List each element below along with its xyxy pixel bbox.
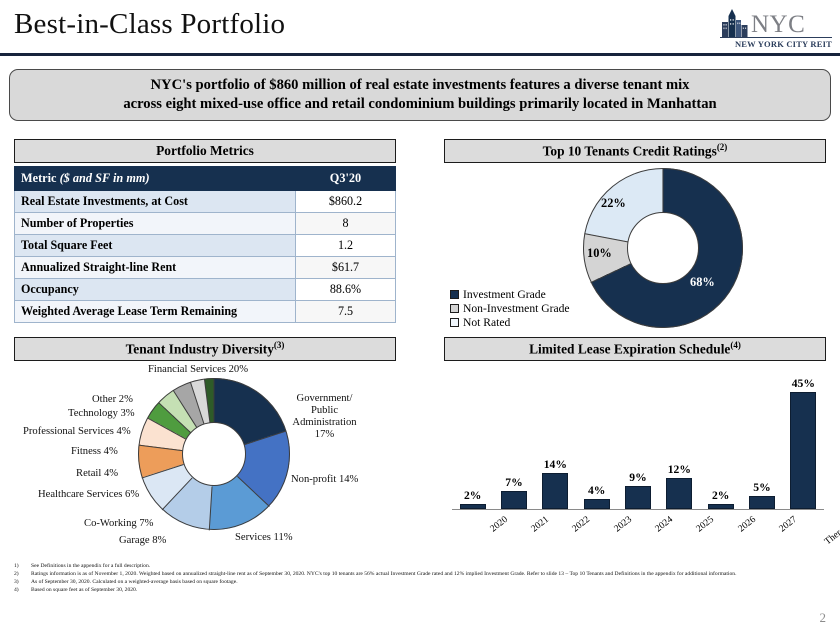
industry-label-text: Government/ Public Administration 17% xyxy=(292,393,356,440)
section-header-credit-ratings: Top 10 Tenants Credit Ratings(2) xyxy=(444,139,826,163)
industry-label-retail: Retail 4% xyxy=(76,468,118,480)
legend-item-investment-grade: Investment Grade xyxy=(450,287,570,301)
bar-category-label: 2025 xyxy=(694,514,716,534)
legend-label: Investment Grade xyxy=(463,288,546,301)
bar-value-label: 12% xyxy=(657,463,701,476)
bar-value-label: 2% xyxy=(699,489,743,502)
metric-label: Annualized Straight-line Rent xyxy=(15,257,296,279)
bar-category-label: 2024 xyxy=(653,514,675,534)
header-divider xyxy=(0,53,840,56)
footnote-number: 3) xyxy=(14,579,31,586)
skyline-building-icon xyxy=(720,9,750,37)
bar-category-label: 2021 xyxy=(529,514,551,534)
table-row: Number of Properties8 xyxy=(15,213,396,235)
page-title: Best-in-Class Portfolio xyxy=(14,8,285,41)
metric-value: 7.5 xyxy=(296,301,396,323)
section-title-text: Top 10 Tenants Credit Ratings(2) xyxy=(543,142,728,159)
slide: Best-in-Class Portfolio xyxy=(0,0,840,631)
portfolio-metrics-table: Metric ($ and SF in mm) Q3'20 Real Estat… xyxy=(14,166,396,323)
bar-value-label: 45% xyxy=(781,377,825,390)
bar-category-label: 2022 xyxy=(570,514,592,534)
logo-wordmark: NYC xyxy=(751,12,805,37)
metric-header-label: Metric xyxy=(21,171,57,185)
metric-value: $61.7 xyxy=(296,257,396,279)
column-header-value: Q3'20 xyxy=(296,167,396,191)
industry-label-professional-services: Professional Services 4% xyxy=(23,426,131,438)
metric-label: Occupancy xyxy=(15,279,296,301)
credit-ratings-legend: Investment Grade Non-Investment Grade No… xyxy=(450,287,570,329)
section-title-text: Portfolio Metrics xyxy=(156,143,254,159)
donut-label-non-investment-grade: 10% xyxy=(587,246,612,261)
table-row: Occupancy88.6% xyxy=(15,279,396,301)
bar-category-label: Thereafter xyxy=(823,514,840,547)
bar xyxy=(790,392,816,509)
donut-label-not-rated: 22% xyxy=(601,196,626,211)
bar xyxy=(542,473,568,509)
legend-label: Non-Investment Grade xyxy=(463,302,570,315)
section-header-lease-expiration: Limited Lease Expiration Schedule(4) xyxy=(444,337,826,361)
footnote-row: 4)Based on square feet as of September 3… xyxy=(14,587,826,594)
legend-swatch-icon xyxy=(450,318,459,327)
legend-item-not-rated: Not Rated xyxy=(450,315,570,329)
metric-value: 1.2 xyxy=(296,235,396,257)
logo-tagline: NEW YORK CITY REIT xyxy=(720,37,832,49)
industry-label-healthcare-services: Healthcare Services 6% xyxy=(38,489,139,501)
industry-label-co-working: Co-Working 7% xyxy=(84,518,153,530)
credit-ratings-donut-chart: 68% 10% 22% xyxy=(583,168,743,328)
section-header-portfolio-metrics: Portfolio Metrics xyxy=(14,139,396,163)
bar-value-label: 14% xyxy=(533,458,577,471)
footnote-row: 2)Ratings information is as of November … xyxy=(14,571,826,578)
industry-diversity-title: Tenant Industry Diversity xyxy=(126,342,274,357)
segment-divider xyxy=(662,169,663,213)
industry-diversity-donut-chart xyxy=(138,378,290,530)
footnote-number: 4) xyxy=(14,587,31,594)
section-header-industry-diversity: Tenant Industry Diversity(3) xyxy=(14,337,396,361)
credit-ratings-footnote-ref: (2) xyxy=(717,142,728,152)
column-header-metric: Metric ($ and SF in mm) xyxy=(15,167,296,191)
banner-line-1: NYC's portfolio of $860 million of real … xyxy=(151,76,690,95)
section-title-text: Limited Lease Expiration Schedule(4) xyxy=(529,340,741,357)
industry-label-services: Services 11% xyxy=(235,532,293,544)
page-number: 2 xyxy=(820,610,827,626)
footnote-number: 1) xyxy=(14,563,31,570)
industry-label-government: Government/ Public Administration 17% xyxy=(287,393,362,441)
footnote-text: See Definitions in the appendix for a fu… xyxy=(31,563,826,570)
bar-category-label: 2023 xyxy=(612,514,634,534)
footnote-text: Ratings information is as of November 1,… xyxy=(31,571,826,578)
table-row: Annualized Straight-line Rent$61.7 xyxy=(15,257,396,279)
nyc-reit-logo: NYC NEW YORK CITY REIT xyxy=(720,8,832,50)
bar-value-label: 9% xyxy=(616,471,660,484)
metric-header-units: ($ and SF in mm) xyxy=(60,171,150,185)
bar-value-label: 5% xyxy=(740,481,784,494)
bar xyxy=(584,499,610,509)
footnote-row: 1)See Definitions in the appendix for a … xyxy=(14,563,826,570)
chart-baseline xyxy=(452,509,824,510)
bar-value-label: 7% xyxy=(492,476,536,489)
industry-label-garage: Garage 8% xyxy=(119,535,166,547)
bar-category-label: 2026 xyxy=(736,514,758,534)
footnotes: 1)See Definitions in the appendix for a … xyxy=(14,563,826,595)
bar-category-label: 2020 xyxy=(488,514,510,534)
legend-label: Not Rated xyxy=(463,316,510,329)
bar-value-label: 2% xyxy=(451,489,495,502)
industry-label-financial-services: Financial Services 20% xyxy=(148,364,248,376)
footnote-number: 2) xyxy=(14,571,31,578)
table-row: Weighted Average Lease Term Remaining7.5 xyxy=(15,301,396,323)
credit-ratings-title: Top 10 Tenants Credit Ratings xyxy=(543,144,717,159)
lease-expiration-bar-chart: 2%7%14%4%9%12%2%5%45% xyxy=(452,372,824,510)
footnote-row: 3)As of September 30, 2020. Calculated o… xyxy=(14,579,826,586)
industry-label-technology: Technology 3% xyxy=(68,408,135,420)
bar-category-label: 2027 xyxy=(777,514,799,534)
bar-value-label: 4% xyxy=(575,484,619,497)
lease-expiration-title: Limited Lease Expiration Schedule xyxy=(529,342,730,357)
segment-divider xyxy=(213,379,214,423)
legend-item-non-investment-grade: Non-Investment Grade xyxy=(450,301,570,315)
bar xyxy=(666,478,692,509)
industry-label-non-profit: Non-profit 14% xyxy=(291,474,358,486)
metric-label: Real Estate Investments, at Cost xyxy=(15,191,296,213)
table-header-row: Metric ($ and SF in mm) Q3'20 xyxy=(15,167,396,191)
legend-swatch-icon xyxy=(450,290,459,299)
industry-diversity-footnote-ref: (3) xyxy=(274,340,285,350)
bar xyxy=(501,491,527,509)
bar xyxy=(749,496,775,509)
table-row: Real Estate Investments, at Cost$860.2 xyxy=(15,191,396,213)
donut-label-investment-grade: 68% xyxy=(690,275,715,290)
footnote-text: As of September 30, 2020. Calculated on … xyxy=(31,579,826,586)
industry-label-other: Other 2% xyxy=(92,394,133,406)
table-row: Total Square Feet1.2 xyxy=(15,235,396,257)
section-title-text: Tenant Industry Diversity(3) xyxy=(126,340,285,357)
metric-value: 8 xyxy=(296,213,396,235)
metric-label: Total Square Feet xyxy=(15,235,296,257)
bar xyxy=(625,486,651,509)
lease-expiration-footnote-ref: (4) xyxy=(730,340,741,350)
donut-hole xyxy=(627,212,699,284)
metric-value: 88.6% xyxy=(296,279,396,301)
banner-line-2: across eight mixed-use office and retail… xyxy=(123,95,716,114)
metric-value: $860.2 xyxy=(296,191,396,213)
metric-label: Number of Properties xyxy=(15,213,296,235)
metric-label: Weighted Average Lease Term Remaining xyxy=(15,301,296,323)
footnote-text: Based on square feet as of September 30,… xyxy=(31,587,826,594)
industry-label-fitness: Fitness 4% xyxy=(71,446,118,458)
legend-swatch-icon xyxy=(450,304,459,313)
summary-banner: NYC's portfolio of $860 million of real … xyxy=(9,69,831,121)
